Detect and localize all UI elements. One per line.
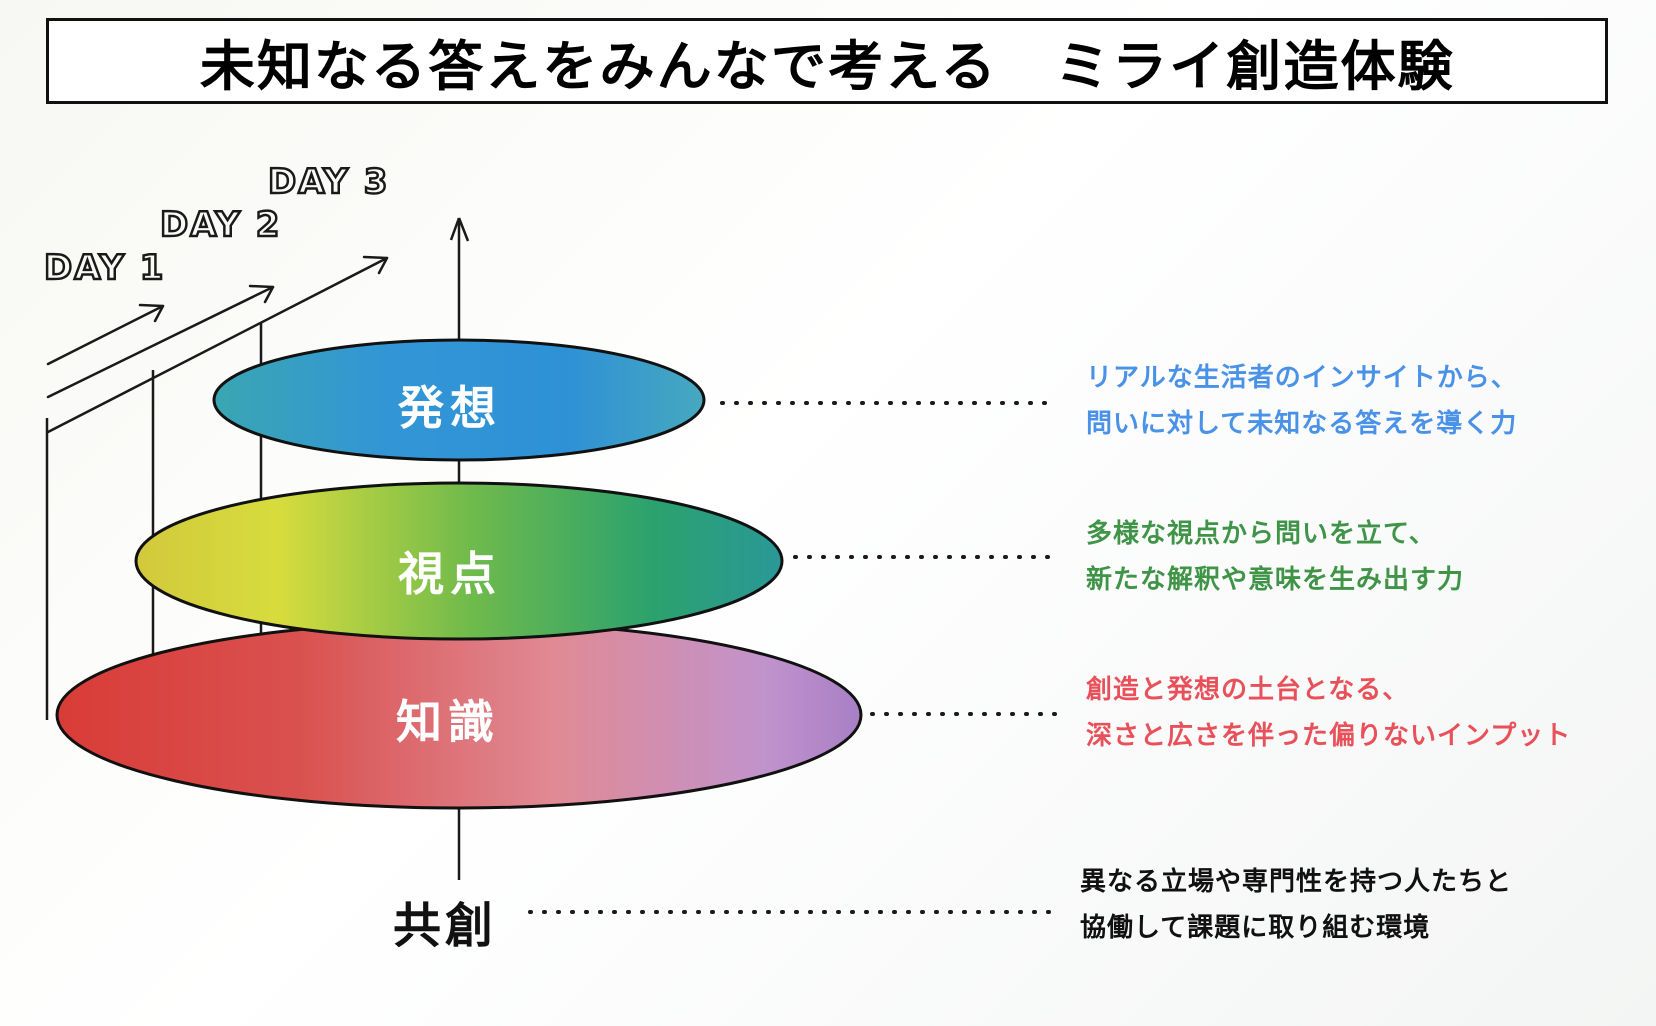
annotation-chishiki-line-1: 創造と発想の土台となる、 bbox=[1086, 668, 1571, 714]
annotation-hasso-line-2: 問いに対して未知なる答えを導く力 bbox=[1086, 402, 1518, 448]
annotation-kyoso-line-2: 協働して課題に取り組む環境 bbox=[1080, 906, 1512, 952]
slide-canvas: 未知なる答えをみんなで考える ミライ創造体験 bbox=[0, 0, 1656, 1026]
annotation-shiten: 多様な視点から問いを立て、 新たな解釈や意味を生み出す力 bbox=[1086, 512, 1464, 603]
stage-label-chishiki: 知識 bbox=[396, 686, 500, 752]
annotation-kyoso-line-1: 異なる立場や専門性を持つ人たちと bbox=[1080, 860, 1512, 906]
foundation-label: 共創 bbox=[393, 886, 497, 956]
stage-label-shiten: 視点 bbox=[398, 538, 502, 604]
annotation-chishiki: 創造と発想の土台となる、 深さと広さを伴った偏りないインプット bbox=[1086, 668, 1571, 759]
day-label-1: DAY 1 bbox=[44, 248, 165, 288]
annotation-hasso-line-1: リアルな生活者のインサイトから、 bbox=[1086, 356, 1518, 402]
day-label-3: DAY 3 bbox=[268, 162, 389, 202]
annotation-hasso: リアルな生活者のインサイトから、 問いに対して未知なる答えを導く力 bbox=[1086, 356, 1518, 447]
annotation-shiten-line-1: 多様な視点から問いを立て、 bbox=[1086, 512, 1464, 558]
stage-label-hasso: 発想 bbox=[398, 372, 502, 438]
day-label-2: DAY 2 bbox=[160, 205, 281, 245]
annotation-chishiki-line-2: 深さと広さを伴った偏りないインプット bbox=[1086, 714, 1571, 760]
annotation-kyoso: 異なる立場や専門性を持つ人たちと 協働して課題に取り組む環境 bbox=[1080, 860, 1512, 951]
annotation-shiten-line-2: 新たな解釈や意味を生み出す力 bbox=[1086, 558, 1464, 604]
